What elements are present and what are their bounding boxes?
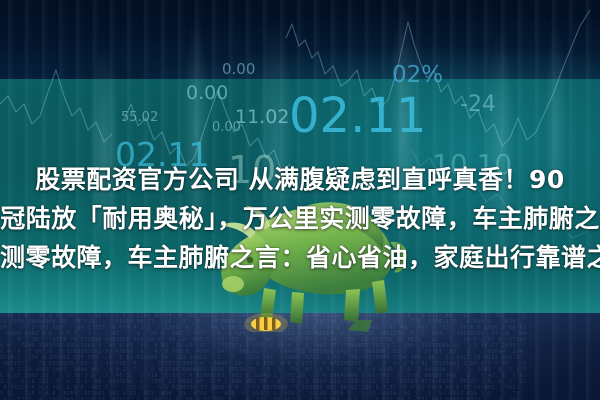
article-thumbnail-image: 2959 2 0 97 4 01 787 3 35 5 6 5 2 5202 6… — [0, 0, 600, 400]
background-band-teal — [0, 79, 600, 313]
background-band-bottom — [0, 313, 600, 400]
background-band-top — [0, 0, 600, 79]
